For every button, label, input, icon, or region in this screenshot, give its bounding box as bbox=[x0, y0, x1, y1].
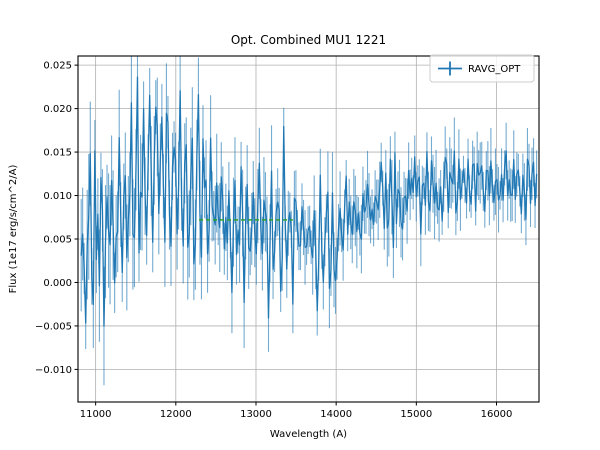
matplotlib-figure: 110001200013000140001500016000−0.010−0.0… bbox=[0, 0, 600, 450]
x-tick-label: 14000 bbox=[320, 409, 352, 420]
y-axis-label: Flux (1e17 erg/s/cm^2/A) bbox=[8, 165, 19, 294]
y-tick-label: 0.015 bbox=[43, 148, 72, 159]
y-tick-label: 0.005 bbox=[43, 234, 72, 245]
x-axis-label: Wavelength (A) bbox=[270, 429, 347, 440]
legend-label-ravg-opt: RAVG_OPT bbox=[468, 64, 521, 75]
y-tick-label: −0.010 bbox=[35, 365, 72, 376]
y-tick-label: 0.020 bbox=[43, 104, 72, 115]
x-tick-label: 16000 bbox=[481, 409, 513, 420]
x-tick-label: 15000 bbox=[400, 409, 432, 420]
y-tick-label: 0.010 bbox=[43, 191, 72, 202]
y-tick-label: −0.005 bbox=[35, 321, 72, 332]
plot-canvas: 110001200013000140001500016000−0.010−0.0… bbox=[0, 0, 600, 450]
y-tick-label: 0.025 bbox=[43, 61, 72, 72]
legend[interactable]: RAVG_OPT bbox=[430, 55, 534, 82]
page-title: Opt. Combined MU1 1221 bbox=[231, 33, 386, 47]
x-tick-label: 13000 bbox=[240, 409, 272, 420]
y-tick-label: 0.000 bbox=[43, 278, 72, 289]
x-tick-label: 12000 bbox=[160, 409, 192, 420]
x-tick-label: 11000 bbox=[80, 409, 112, 420]
